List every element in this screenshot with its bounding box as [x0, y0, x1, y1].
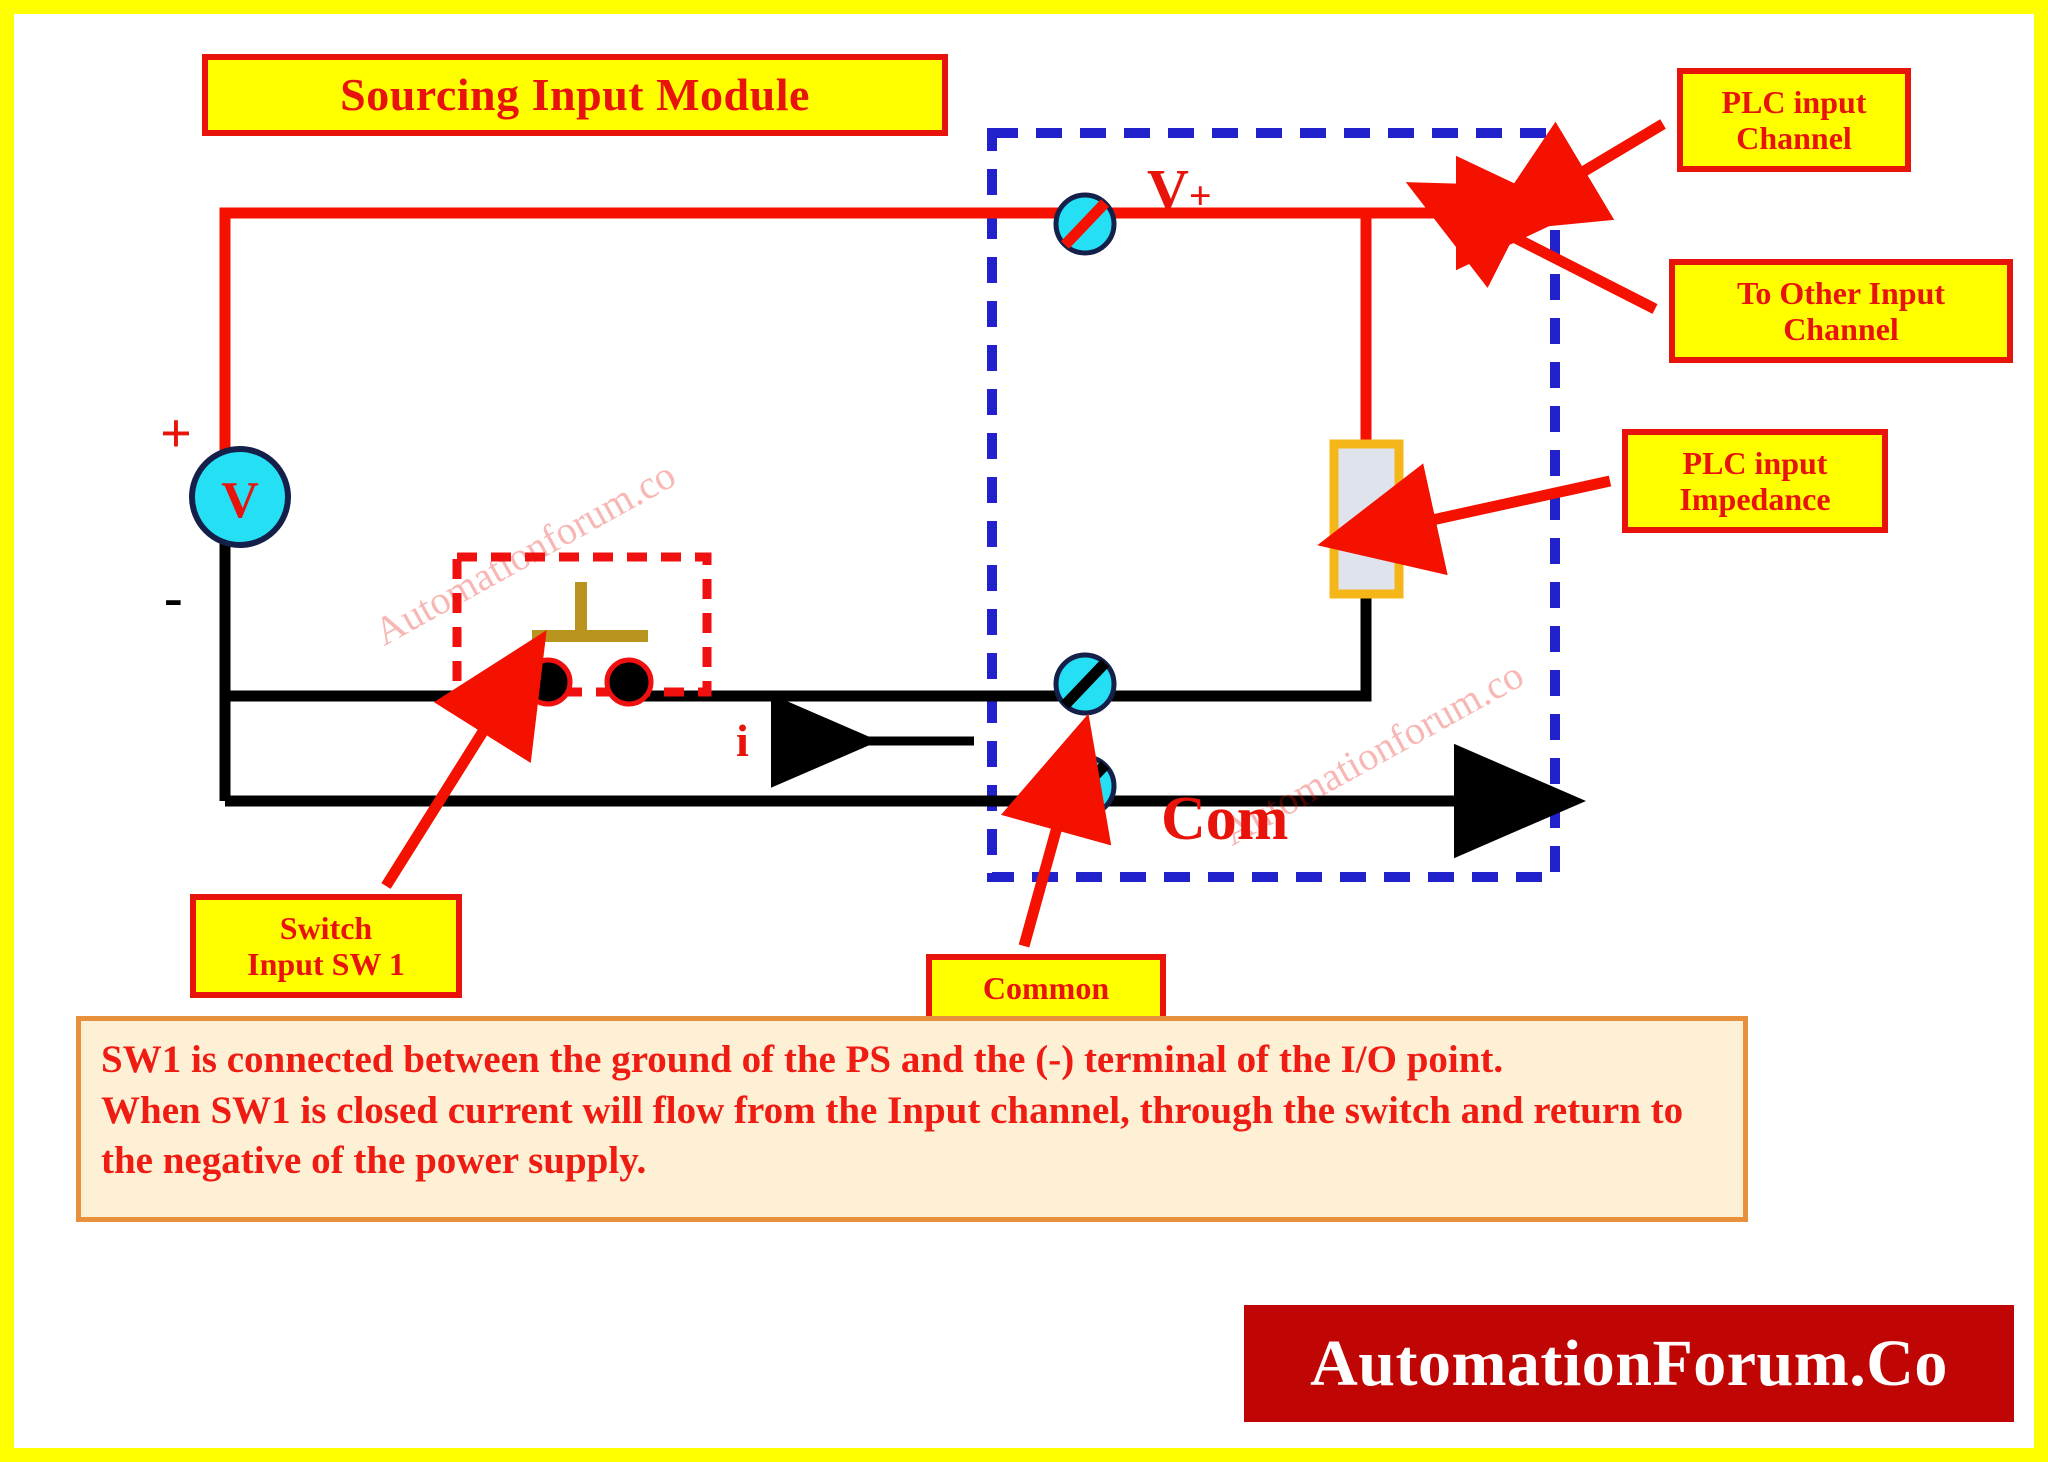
v-plus-label: V+	[1147, 156, 1212, 223]
page-title: Sourcing Input Module	[202, 54, 948, 136]
switch-contact-left	[526, 660, 570, 704]
switch-actuator-icon	[532, 582, 648, 636]
circuit-schematic	[14, 14, 2034, 1448]
description-panel: SW1 is connected between the ground of t…	[76, 1016, 1748, 1222]
callout-to-other-input-channel: To Other Input Channel	[1669, 259, 2013, 363]
supply-minus-label: -	[164, 570, 183, 626]
common-terminal	[1056, 757, 1114, 815]
automationforum-logo: AutomationForum.Co	[1244, 1305, 2014, 1422]
v-plus-text: V	[1147, 157, 1189, 222]
callout-plc-input-impedance: PLC input Impedance	[1622, 429, 1888, 533]
switch-contact-right	[607, 660, 651, 704]
leader-other-input-channel	[1494, 227, 1655, 309]
plc-input-impedance-symbol	[1334, 444, 1399, 594]
v-plus-sign: +	[1189, 173, 1212, 218]
callout-common: Common	[926, 954, 1166, 1022]
com-label: Com	[1161, 784, 1288, 855]
v-plus-terminal	[1056, 195, 1114, 253]
leader-plc-input-channel	[1566, 124, 1663, 182]
callout-plc-input-channel: PLC input Channel	[1677, 68, 1911, 172]
voltage-source-label: V	[197, 471, 283, 530]
red-supply-wire	[225, 213, 1478, 484]
input-terminal	[1056, 655, 1114, 713]
callout-switch-input-sw1: Switch Input SW 1	[190, 894, 462, 998]
diagram-canvas: Automationforum.co Automationforum.co V+…	[14, 14, 2034, 1448]
diagram-frame: Automationforum.co Automationforum.co V+…	[0, 0, 2048, 1462]
current-label: i	[736, 714, 749, 767]
leader-plc-impedance	[1414, 481, 1610, 524]
supply-plus-label: +	[160, 406, 192, 462]
